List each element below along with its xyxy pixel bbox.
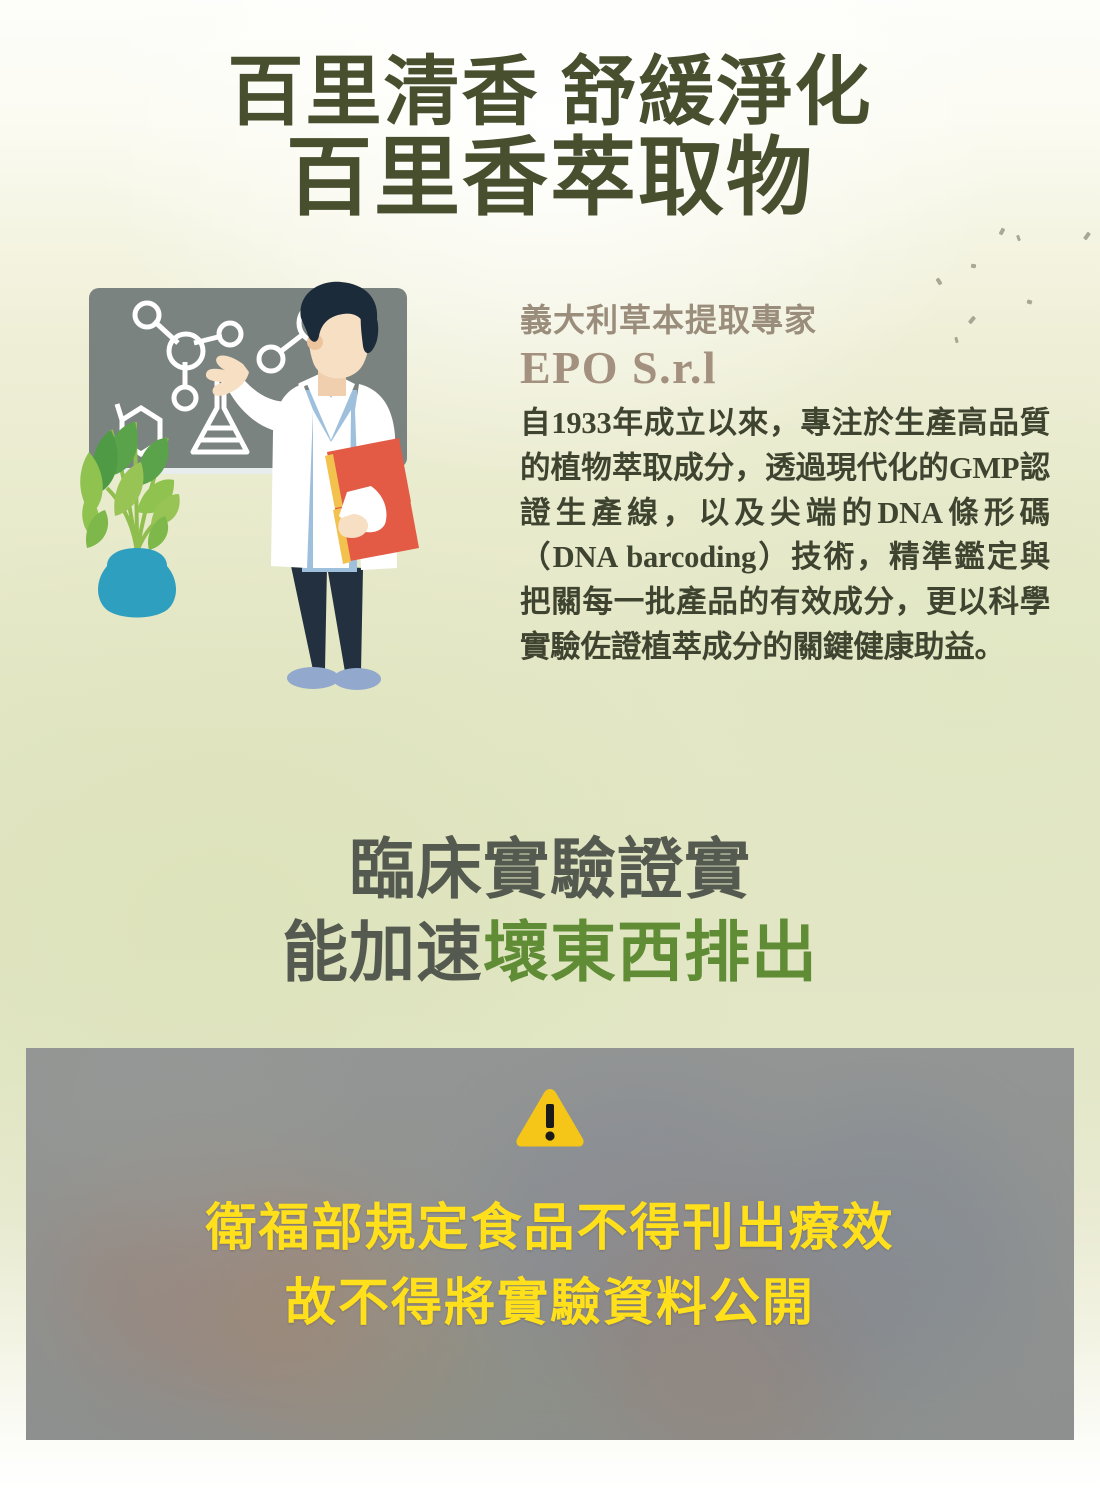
regulatory-warning-panel: 衛福部規定食品不得刊出療效 故不得將實驗資料公開: [26, 1048, 1074, 1440]
claim-prefix: 能加速: [282, 917, 483, 990]
poster-title: 百里清香 舒緩淨化 百里香萃取物: [0, 52, 1100, 225]
copy-eyebrow: 義大利草本提取專家: [520, 300, 1050, 340]
speckle-artifact: [971, 264, 977, 269]
clinical-claim-block: 臨床實驗證實 能加速壞東西排出: [0, 830, 1100, 995]
title-line-1: 百里清香 舒緩淨化: [0, 52, 1100, 134]
speckle-artifact: [935, 277, 942, 285]
warning-line-1: 衛福部規定食品不得刊出療效: [26, 1190, 1074, 1265]
brand-name: EPO S.r.l: [520, 342, 1050, 395]
poster-root: 百里清香 舒緩淨化 百里香萃取物: [0, 0, 1100, 1488]
claim-line-1: 臨床實驗證實: [0, 830, 1100, 913]
scientist-illustration: [75, 280, 495, 800]
warning-triangle-icon: [26, 1086, 1074, 1155]
speckle-artifact: [999, 227, 1006, 235]
warning-text-block: 衛福部規定食品不得刊出療效 故不得將實驗資料公開: [26, 1190, 1074, 1341]
warning-line-2: 故不得將實驗資料公開: [26, 1265, 1074, 1340]
title-line-2: 百里香萃取物: [0, 132, 1100, 225]
copy-paragraph: 自1933年成立以來，專注於生產高品質的植物萃取成分，透過現代化的GMP認證生產…: [520, 401, 1050, 670]
claim-highlight: 壞東西排出: [483, 917, 818, 990]
claim-line-2: 能加速壞東西排出: [0, 913, 1100, 996]
speckle-artifact: [1016, 235, 1021, 242]
copy-block: 義大利草本提取專家 EPO S.r.l 自1933年成立以來，專注於生產高品質的…: [520, 300, 1050, 670]
speckle-artifact: [1083, 232, 1091, 241]
